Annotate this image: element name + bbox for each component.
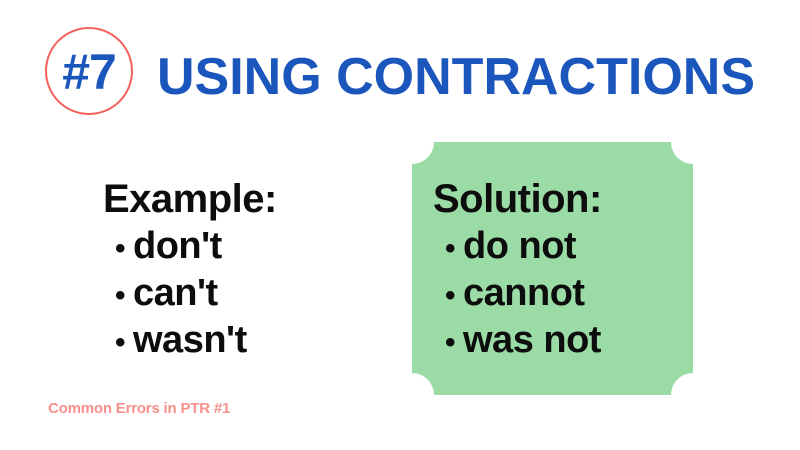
bullet-icon: • bbox=[433, 321, 463, 365]
list-item: • don't bbox=[103, 224, 393, 271]
list-item: • cannot bbox=[433, 271, 683, 318]
slide-header: #7 USING CONTRACTIONS bbox=[0, 0, 800, 140]
list-item-label: wasn't bbox=[133, 318, 247, 362]
solution-column: Solution: • do not • cannot • was not bbox=[433, 176, 683, 365]
page-title: USING CONTRACTIONS bbox=[157, 47, 755, 107]
list-item: • wasn't bbox=[103, 318, 393, 365]
bullet-icon: • bbox=[103, 274, 133, 318]
solution-panel: Solution: • do not • cannot • was not bbox=[412, 142, 693, 395]
example-bullet-list: • don't • can't • wasn't bbox=[103, 224, 393, 365]
solution-heading: Solution: bbox=[433, 176, 683, 222]
bullet-icon: • bbox=[433, 227, 463, 271]
bullet-icon: • bbox=[433, 274, 463, 318]
list-item: • do not bbox=[433, 224, 683, 271]
list-item-label: do not bbox=[463, 224, 576, 268]
list-item-label: don't bbox=[133, 224, 222, 268]
footer-note: Common Errors in PTR #1 bbox=[48, 400, 230, 417]
list-item: • was not bbox=[433, 318, 683, 365]
solution-bullet-list: • do not • cannot • was not bbox=[433, 224, 683, 365]
list-item-label: was not bbox=[463, 318, 601, 362]
solution-panel-content: Solution: • do not • cannot • was not bbox=[412, 142, 693, 395]
number-badge-label: #7 bbox=[36, 36, 142, 108]
bullet-icon: • bbox=[103, 321, 133, 365]
list-item: • can't bbox=[103, 271, 393, 318]
example-heading: Example: bbox=[103, 176, 393, 222]
list-item-label: can't bbox=[133, 271, 218, 315]
slide-canvas: #7 USING CONTRACTIONS Example: • don't •… bbox=[0, 0, 800, 450]
list-item-label: cannot bbox=[463, 271, 585, 315]
bullet-icon: • bbox=[103, 227, 133, 271]
example-column: Example: • don't • can't • wasn't bbox=[103, 176, 393, 365]
